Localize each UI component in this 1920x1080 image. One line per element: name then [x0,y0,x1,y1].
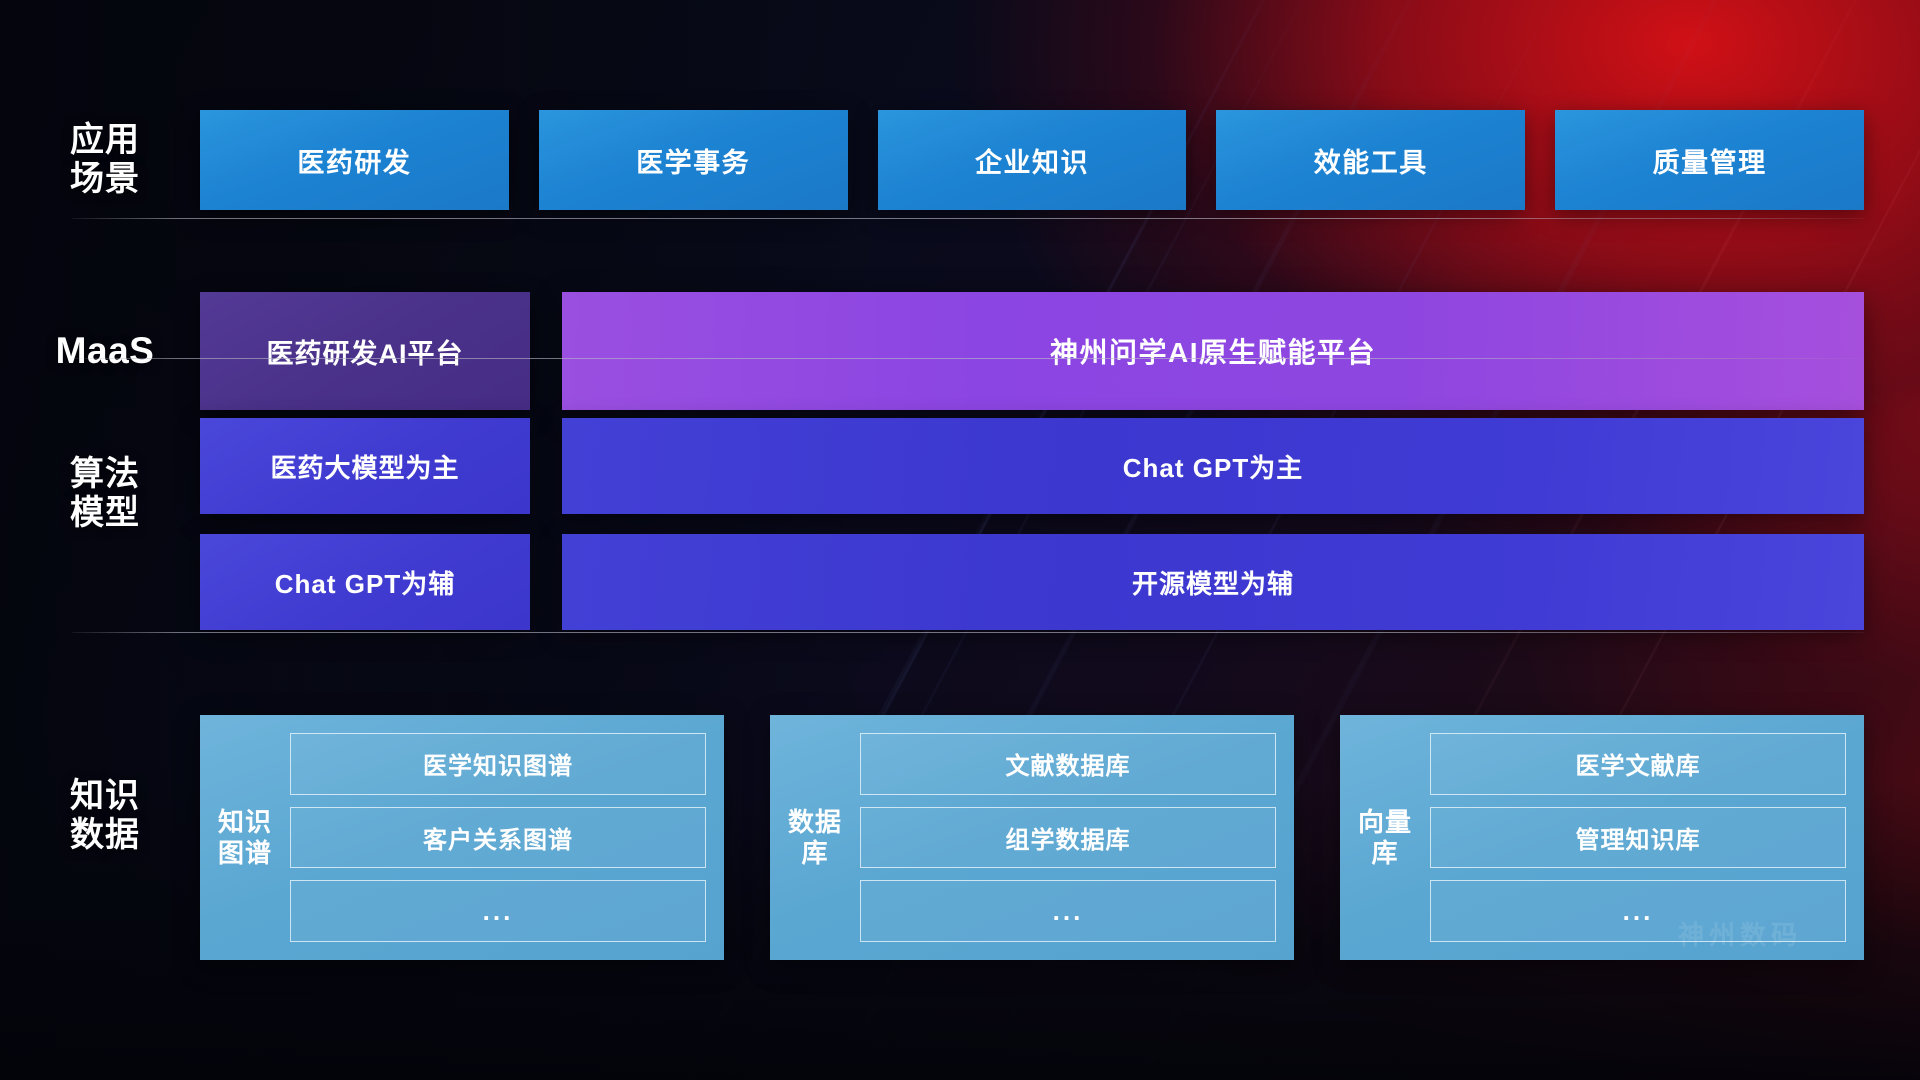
application-scenario-label-line1: 应用 [10,121,200,160]
algorithm-model-label-line1: 算法 [10,455,200,494]
maas-box-shenzhou-wenxue-platform[interactable]: 神州问学AI原生赋能平台 [562,292,1864,410]
knowledge-item-literature-database[interactable]: 文献数据库 [860,733,1276,795]
divider-maas-model [72,358,1864,359]
knowledge-data-label: 知识 数据 [0,715,200,856]
application-scenario-label-line2: 场景 [10,160,200,199]
knowledge-group-items-database: 文献数据库 组学数据库 ... [860,733,1276,942]
knowledge-item-management-knowledge-store[interactable]: 管理知识库 [1430,807,1846,869]
knowledge-item-more-knowledge-graph[interactable]: ... [290,880,706,942]
knowledge-item-omics-database[interactable]: 组学数据库 [860,807,1276,869]
algorithm-model-label: 算法 模型 [0,455,200,534]
application-box-efficiency-tools[interactable]: 效能工具 [1216,110,1525,210]
divider-model-knowledge [72,632,1864,633]
divider-application-maas [72,218,1864,219]
application-scenario-boxes: 医药研发 医学事务 企业知识 效能工具 质量管理 [200,110,1920,210]
knowledge-group-items-vector-store: 医学文献库 管理知识库 ... [1430,733,1846,942]
application-box-enterprise-knowledge[interactable]: 企业知识 [878,110,1187,210]
knowledge-group-title-knowledge-graph: 知识图谱 [214,733,276,942]
knowledge-group-database[interactable]: 数据库 文献数据库 组学数据库 ... [770,715,1294,960]
knowledge-group-title-vector-store: 向量库 [1354,733,1416,942]
knowledge-item-more-vector-store[interactable]: ... [1430,880,1846,942]
knowledge-group-items-knowledge-graph: 医学知识图谱 客户关系图谱 ... [290,733,706,942]
algorithm-model-boxes-secondary: Chat GPT为辅 开源模型为辅 [200,534,1920,630]
maas-row: MaaS 医药研发AI平台 神州问学AI原生赋能平台 [0,292,1920,410]
model-box-chatgpt-primary[interactable]: Chat GPT为主 [562,418,1864,514]
knowledge-item-medical-knowledge-graph[interactable]: 医学知识图谱 [290,733,706,795]
application-scenario-row: 应用 场景 医药研发 医学事务 企业知识 效能工具 质量管理 [0,110,1920,210]
knowledge-group-knowledge-graph[interactable]: 知识图谱 医学知识图谱 客户关系图谱 ... [200,715,724,960]
algorithm-model-boxes-primary: 医药大模型为主 Chat GPT为主 [200,418,1920,514]
knowledge-data-label-line1: 知识 [10,777,200,816]
application-box-quality-management[interactable]: 质量管理 [1555,110,1864,210]
knowledge-item-more-database[interactable]: ... [860,880,1276,942]
knowledge-data-groups: 知识图谱 医学知识图谱 客户关系图谱 ... 数据库 文献数据库 组学数据库 .… [200,715,1920,960]
knowledge-item-medical-literature-store[interactable]: 医学文献库 [1430,733,1846,795]
application-box-medical-affairs[interactable]: 医学事务 [539,110,848,210]
knowledge-data-label-line2: 数据 [10,816,200,855]
knowledge-item-customer-relation-graph[interactable]: 客户关系图谱 [290,807,706,869]
model-box-opensource-secondary[interactable]: 开源模型为辅 [562,534,1864,630]
maas-box-drug-rd-ai-platform[interactable]: 医药研发AI平台 [200,292,530,410]
algorithm-model-row-primary: 医药大模型为主 Chat GPT为主 [0,418,1920,514]
knowledge-group-vector-store[interactable]: 向量库 医学文献库 管理知识库 ... [1340,715,1864,960]
maas-boxes: 医药研发AI平台 神州问学AI原生赋能平台 [200,292,1920,410]
knowledge-group-title-database: 数据库 [784,733,846,942]
application-scenario-label: 应用 场景 [0,121,200,200]
algorithm-model-row-secondary: Chat GPT为辅 开源模型为辅 [0,534,1920,630]
application-box-drug-rd[interactable]: 医药研发 [200,110,509,210]
algorithm-model-label-line2: 模型 [10,494,200,533]
architecture-diagram: 应用 场景 医药研发 医学事务 企业知识 效能工具 质量管理 MaaS 医药研发… [0,0,1920,1080]
model-box-pharma-llm-primary[interactable]: 医药大模型为主 [200,418,530,514]
model-box-chatgpt-secondary[interactable]: Chat GPT为辅 [200,534,530,630]
maas-label: MaaS [0,330,200,373]
knowledge-data-row: 知识 数据 知识图谱 医学知识图谱 客户关系图谱 ... 数据库 文献数据库 组… [0,715,1920,960]
